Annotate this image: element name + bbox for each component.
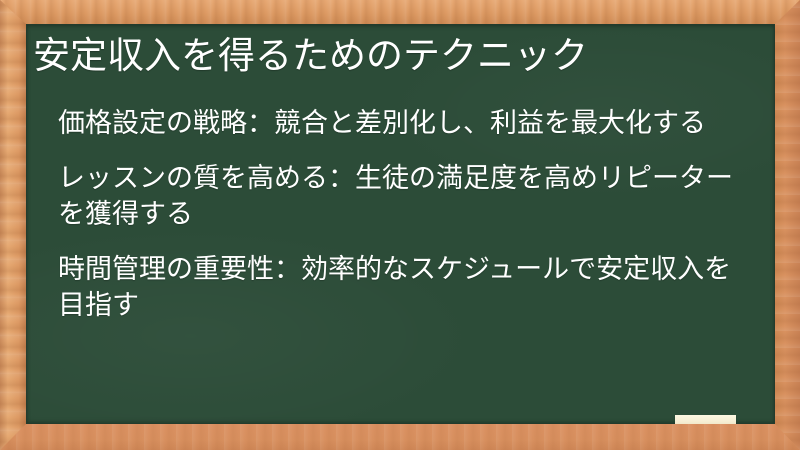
- chalkboard-surface: 安定収入を得るためのテクニック 価格設定の戦略：競合と差別化し、利益を最大化する…: [26, 24, 775, 424]
- slide-title: 安定収入を得るためのテクニック: [33, 33, 753, 79]
- frame-top-plank: [0, 0, 800, 24]
- frame-left-plank: [0, 0, 26, 450]
- frame-bottom-plank: [0, 424, 800, 450]
- chalkboard-slide: 安定収入を得るためのテクニック 価格設定の戦略：競合と差別化し、利益を最大化する…: [0, 0, 800, 450]
- list-item: 価格設定の戦略：競合と差別化し、利益を最大化する: [58, 106, 748, 142]
- frame-right-plank: [775, 0, 800, 450]
- list-item: レッスンの質を高める：生徒の満足度を高めリピーターを獲得する: [58, 161, 748, 233]
- chalk-stick-icon: [675, 415, 736, 424]
- bullet-list: 価格設定の戦略：競合と差別化し、利益を最大化する レッスンの質を高める：生徒の満…: [58, 106, 748, 324]
- list-item: 時間管理の重要性：効率的なスケジュールで安定収入を目指す: [58, 252, 748, 324]
